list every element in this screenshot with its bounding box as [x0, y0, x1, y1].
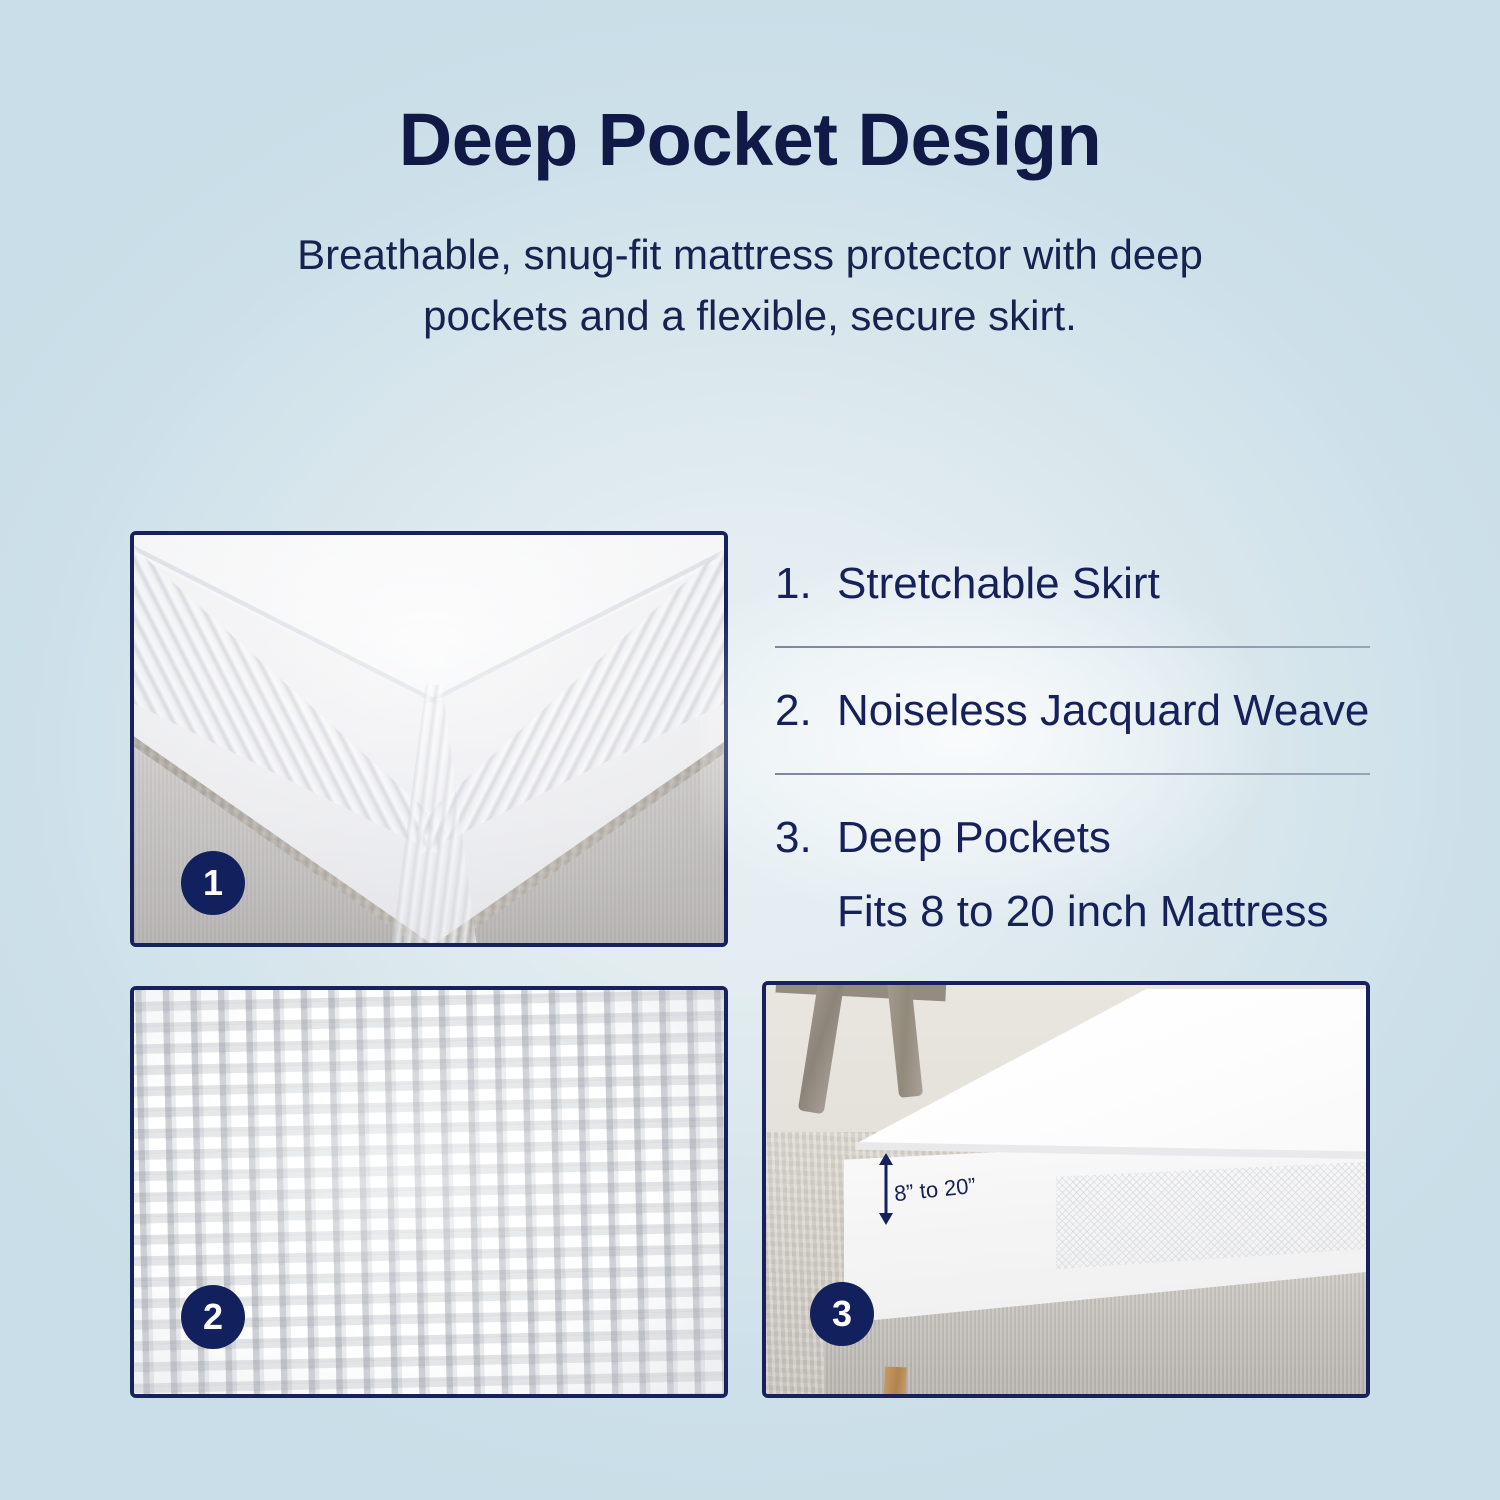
- panel-badge-2: 2: [181, 1285, 245, 1349]
- infographic-page: Deep Pocket Design Breathable, snug-fit …: [0, 0, 1500, 1500]
- feature-label-3: Deep Pockets: [837, 809, 1375, 866]
- page-title: Deep Pocket Design: [0, 103, 1500, 177]
- feature-item-stretchable-skirt: 1. Stretchable Skirt: [775, 555, 1375, 612]
- feature-item-deep-pockets: 3. Deep Pockets Fits 8 to 20 inch Mattre…: [775, 809, 1375, 939]
- image-panel-deep-pockets: 8” to 20” 3: [762, 981, 1370, 1398]
- feature-number-3: 3.: [775, 809, 837, 866]
- feature-label-2: Noiseless Jacquard Weave: [837, 682, 1375, 739]
- feature-divider-2: [775, 773, 1370, 775]
- panel-badge-3: 3: [810, 1282, 874, 1346]
- feature-body-3: Deep Pockets Fits 8 to 20 inch Mattress: [837, 809, 1375, 939]
- feature-number-1: 1.: [775, 555, 837, 612]
- page-subtitle: Breathable, snug-fit mattress protector …: [250, 225, 1250, 347]
- wooden-bed-leg: [883, 1367, 907, 1394]
- feature-list: 1. Stretchable Skirt 2. Noiseless Jacqua…: [775, 555, 1375, 940]
- feature-sublabel-3: Fits 8 to 20 inch Mattress: [837, 883, 1375, 940]
- panel-badge-1: 1: [181, 851, 245, 915]
- feature-label-1: Stretchable Skirt: [837, 555, 1375, 612]
- image-panel-jacquard-weave: 2: [130, 986, 728, 1398]
- feature-body-2: Noiseless Jacquard Weave: [837, 682, 1375, 739]
- feature-body-1: Stretchable Skirt: [837, 555, 1375, 612]
- image-panel-stretchable-skirt: 1: [130, 531, 728, 947]
- feature-number-2: 2.: [775, 682, 837, 739]
- feature-divider-1: [775, 646, 1370, 648]
- feature-item-noiseless-jacquard-weave: 2. Noiseless Jacquard Weave: [775, 682, 1375, 739]
